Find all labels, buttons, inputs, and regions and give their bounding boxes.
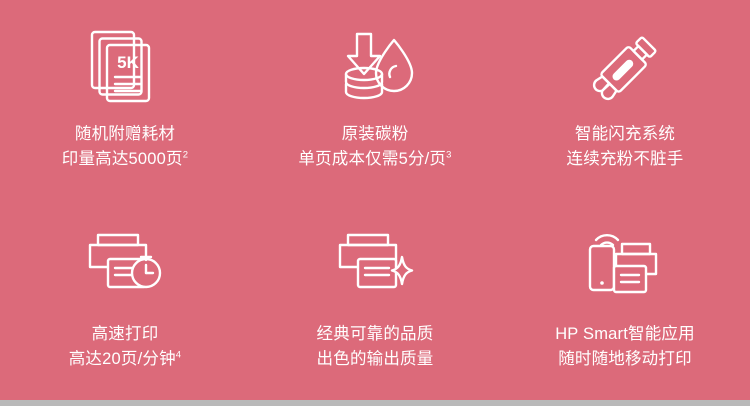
printer-stopwatch-icon <box>79 222 171 306</box>
feature-caption: HP Smart智能应用 随时随地移动打印 <box>555 322 695 372</box>
bottom-edge-strip <box>0 400 750 406</box>
footnote-marker: 3 <box>446 150 451 161</box>
feature-caption-line1: 智能闪充系统 <box>567 122 684 147</box>
feature-item-toner-cost: 原装碳粉 单页成本仅需5分/页3 <box>250 0 500 200</box>
feature-caption: 智能闪充系统 连续充粉不脏手 <box>567 122 684 172</box>
toner-coins-droplet-icon <box>329 26 421 110</box>
feature-caption-line1: 高速打印 <box>69 322 182 347</box>
toner-refill-syringe-icon <box>579 26 671 110</box>
stacked-pages-5k-icon: 5K <box>79 26 171 110</box>
feature-caption: 随机附赠耗材 印量高达5000页2 <box>62 122 189 172</box>
feature-caption: 高速打印 高达20页/分钟4 <box>69 322 182 372</box>
feature-caption-line2: 出色的输出质量 <box>317 347 434 372</box>
phone-wifi-printer-icon <box>579 222 671 306</box>
feature-caption-line2: 随时随地移动打印 <box>555 347 695 372</box>
footnote-marker: 2 <box>183 150 188 161</box>
pages-badge-label: 5K <box>117 53 139 72</box>
feature-caption-line1: 原装碳粉 <box>298 122 451 147</box>
feature-item-hp-smart-app: HP Smart智能应用 随时随地移动打印 <box>500 200 750 400</box>
feature-item-refill-system: 智能闪充系统 连续充粉不脏手 <box>500 0 750 200</box>
feature-caption: 原装碳粉 单页成本仅需5分/页3 <box>298 122 451 172</box>
feature-caption-line2: 连续充粉不脏手 <box>567 147 684 172</box>
feature-item-print-quality: 经典可靠的品质 出色的输出质量 <box>250 200 500 400</box>
feature-caption-line2: 高达20页/分钟4 <box>69 347 182 372</box>
footnote-marker: 4 <box>176 350 181 361</box>
promo-banner: 5K 随机附赠耗材 印量高达5000页2 <box>0 0 750 400</box>
feature-caption-line2: 单页成本仅需5分/页3 <box>298 147 451 172</box>
printer-sparkle-icon <box>329 222 421 306</box>
feature-caption-line1: 随机附赠耗材 <box>62 122 189 147</box>
feature-item-supplies: 5K 随机附赠耗材 印量高达5000页2 <box>0 0 250 200</box>
feature-item-print-speed: 高速打印 高达20页/分钟4 <box>0 200 250 400</box>
feature-grid: 5K 随机附赠耗材 印量高达5000页2 <box>0 0 750 400</box>
feature-caption-line2: 印量高达5000页2 <box>62 147 189 172</box>
feature-caption: 经典可靠的品质 出色的输出质量 <box>317 322 434 372</box>
feature-caption-line1: 经典可靠的品质 <box>317 322 434 347</box>
feature-caption-line1: HP Smart智能应用 <box>555 322 695 347</box>
